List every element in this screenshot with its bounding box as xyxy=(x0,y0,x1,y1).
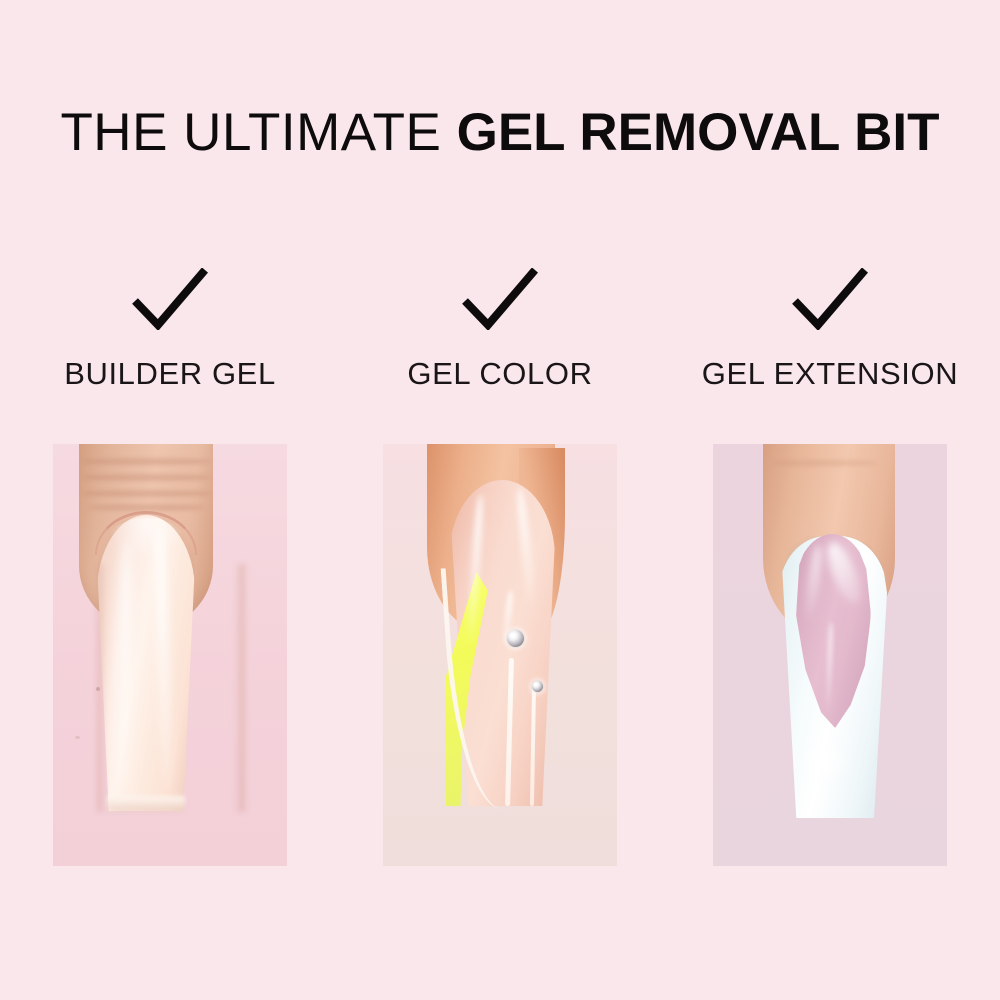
nail-tip xyxy=(107,796,185,812)
check-mark-icon xyxy=(792,268,868,330)
gel-color-nail-photo xyxy=(383,444,617,866)
photo-speck xyxy=(75,736,80,739)
page-title: THE ULTIMATE GEL REMOVAL BIT xyxy=(0,104,1000,162)
knuckle-crease xyxy=(83,458,211,465)
feature-column-gel-extension: GEL EXTENSION xyxy=(674,258,986,878)
knuckle-crease xyxy=(89,504,205,511)
feature-column-builder-gel: BUILDER GEL xyxy=(14,258,326,878)
check-mark-icon xyxy=(462,268,538,330)
feature-columns: BUILDER GEL xyxy=(0,258,1000,878)
feature-label-gel-color: GEL COLOR xyxy=(344,356,656,392)
knuckle-crease xyxy=(83,490,211,497)
nail-tip-gloss xyxy=(799,744,865,804)
rhinestone-gem xyxy=(507,630,524,647)
feature-label-gel-extension: GEL EXTENSION xyxy=(674,356,986,392)
rhinestone-gem xyxy=(532,681,543,692)
builder-gel-nail-photo xyxy=(53,444,287,866)
feature-label-builder-gel: BUILDER GEL xyxy=(14,356,326,392)
photo-speck xyxy=(96,687,100,691)
check-mark-icon xyxy=(132,268,208,330)
page-title-light: THE ULTIMATE xyxy=(60,103,456,162)
poster-root: THE ULTIMATE GEL REMOVAL BIT BUILDER GEL xyxy=(0,0,1000,1000)
nail-edge-shadow-right xyxy=(234,564,245,812)
gel-extension-nail-photo xyxy=(713,444,947,866)
feature-column-gel-color: GEL COLOR xyxy=(344,258,656,878)
knuckle-crease xyxy=(773,460,877,466)
knuckle-crease xyxy=(83,474,211,481)
page-title-bold: GEL REMOVAL BIT xyxy=(457,103,940,162)
